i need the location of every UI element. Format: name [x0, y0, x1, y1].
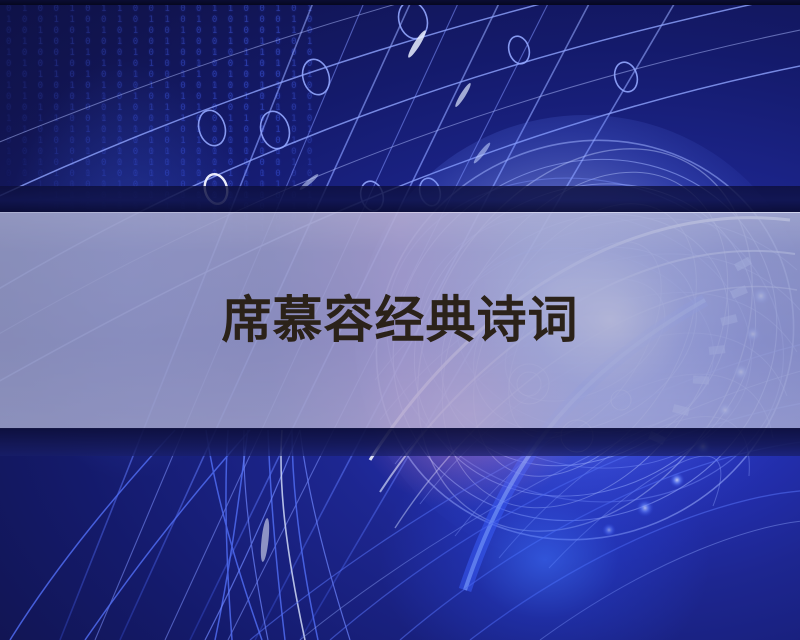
- page-title: 席慕容经典诗词: [222, 295, 579, 345]
- band-dark-upper: [0, 186, 800, 212]
- top-edge-rule: [0, 0, 800, 3]
- band-dark-lower: [0, 428, 800, 456]
- lower-blue-glow: [380, 430, 710, 640]
- binary-code-pattern-top: 0 1 0 0 1 0 1 1 0 0 1 0 0 1 1 0 0 1 0 1 …: [0, 0, 330, 250]
- right-edge-glow: [0, 60, 260, 480]
- binary-code-pattern-bottom: 0 0 1 0 1 1 0 0 1 0 0 1 1 0 0 1 0 1 1 0 …: [0, 0, 300, 230]
- title-container: 席慕容经典诗词: [0, 285, 800, 355]
- presentation-slide: 0 1 0 0 1 0 1 1 0 0 1 0 0 1 1 0 0 1 0 1 …: [0, 0, 800, 640]
- bottom-edge-rule: [0, 0, 800, 5]
